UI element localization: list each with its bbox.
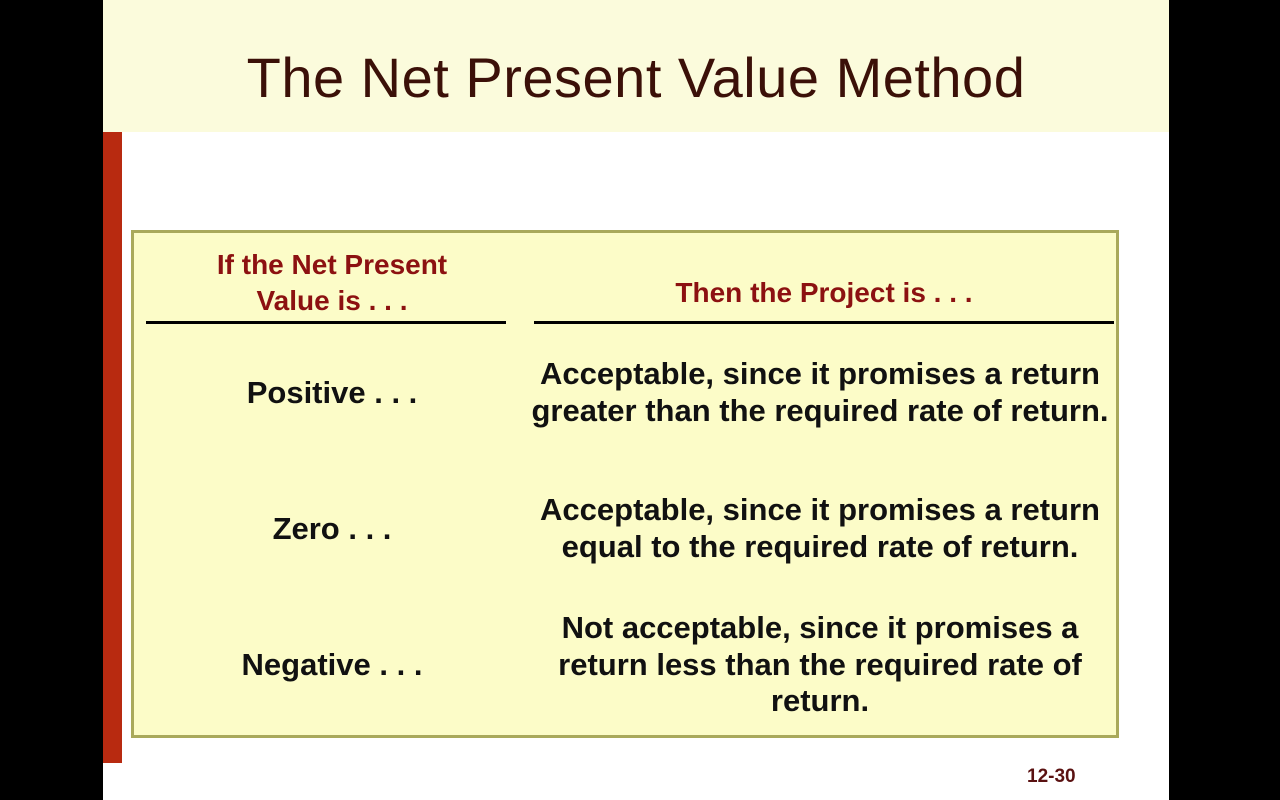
title-banner: The Net Present Value Method [103, 0, 1169, 132]
cell-condition: Negative . . . [146, 597, 518, 733]
cell-condition: Zero . . . [146, 461, 518, 597]
table-row: Zero . . . Acceptable, since it promises… [134, 461, 1116, 597]
column-header-condition-line1: If the Net Present [146, 247, 518, 283]
column-header-condition-line2: Value is . . . [146, 283, 518, 319]
red-accent-bar [103, 132, 122, 763]
slide-letterbox-stage: The Net Present Value Method If the Net … [0, 0, 1280, 800]
slide-canvas: The Net Present Value Method If the Net … [103, 0, 1169, 800]
slide-title: The Net Present Value Method [103, 0, 1169, 132]
npv-decision-table: If the Net Present Value is . . . Then t… [131, 230, 1119, 738]
cell-outcome: Not acceptable, since it promises a retu… [526, 597, 1114, 733]
page-number: 12-30 [1027, 766, 1076, 788]
cell-outcome: Acceptable, since it promises a return e… [526, 461, 1114, 597]
cell-condition: Positive . . . [146, 325, 518, 461]
column-header-outcome: Then the Project is . . . [534, 275, 1114, 311]
table-header-row: If the Net Present Value is . . . Then t… [134, 233, 1116, 315]
table-row: Negative . . . Not acceptable, since it … [134, 597, 1116, 733]
table-row: Positive . . . Acceptable, since it prom… [134, 325, 1116, 461]
table-body: Positive . . . Acceptable, since it prom… [134, 325, 1116, 733]
column-header-condition: If the Net Present Value is . . . [146, 247, 518, 320]
header-underline-right [534, 321, 1114, 324]
header-underline-left [146, 321, 506, 324]
cell-outcome: Acceptable, since it promises a return g… [526, 325, 1114, 461]
